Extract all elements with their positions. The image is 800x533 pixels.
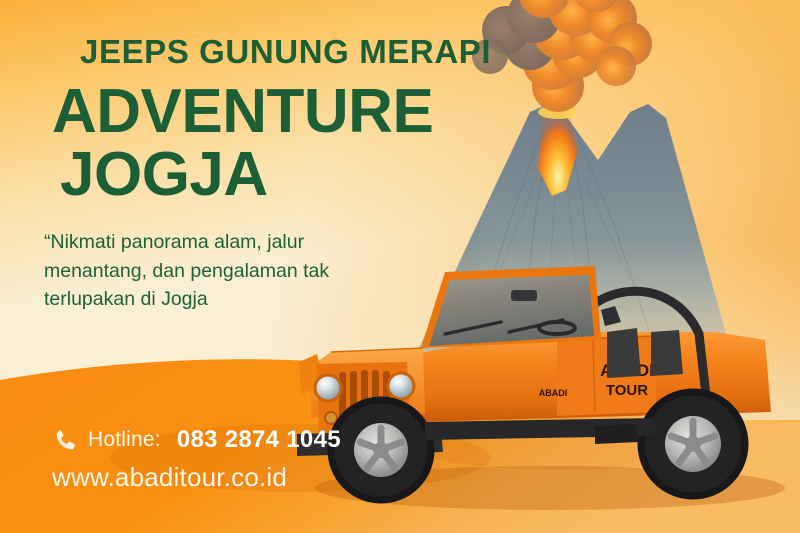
headline-line-2: JOGJA <box>60 145 268 206</box>
phone-handset-icon <box>52 428 77 453</box>
headline-line-1: ADVENTURE <box>52 82 433 143</box>
kicker-heading: JEEPS GUNUNG MERAPI <box>80 33 491 71</box>
hotline-label: Hotline: <box>88 428 161 452</box>
tagline-quote: “Nikmati panorama alam, jalur menantang,… <box>44 228 334 314</box>
promo-poster: ABADI TOUR ABADI <box>0 0 800 533</box>
hotline-number[interactable]: 083 2874 1045 <box>177 426 341 454</box>
hotline-row[interactable]: Hotline: 083 2874 1045 <box>52 424 412 456</box>
contact-block: Hotline: 083 2874 1045 www.abaditour.co.… <box>52 424 412 493</box>
website-url[interactable]: www.abaditour.co.id <box>52 462 412 493</box>
